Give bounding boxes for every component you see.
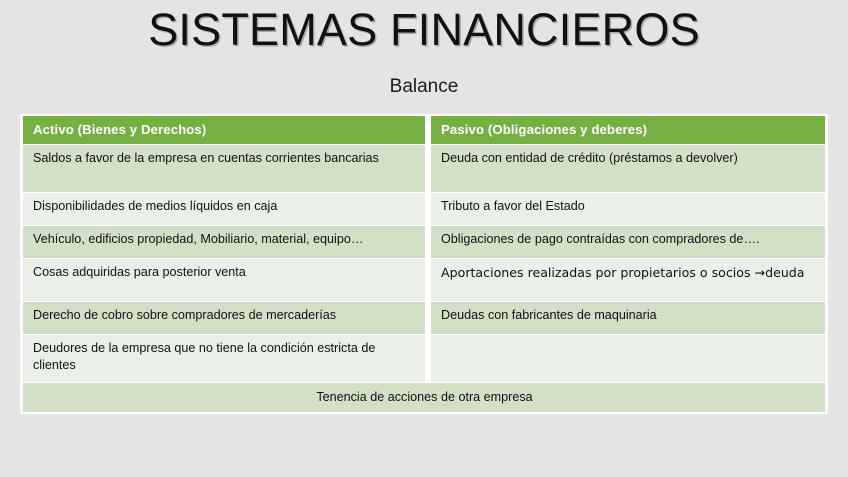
table-row: Saldos a favor de la empresa en cuentas … — [20, 145, 828, 193]
table-row: Disponibilidades de medios líquidos en c… — [20, 193, 828, 226]
page-title: SISTEMAS FINANCIEROS — [0, 2, 848, 57]
cell-pasivo: Tributo a favor del Estado — [428, 193, 828, 226]
cell-activo: Disponibilidades de medios líquidos en c… — [20, 193, 428, 226]
cell-activo: Derecho de cobro sobre compradores de me… — [20, 302, 428, 335]
cell-merged-footer: Tenencia de acciones de otra empresa — [20, 383, 828, 414]
table-row: Cosas adquiridas para posterior venta Ap… — [20, 259, 828, 302]
cell-activo: Saldos a favor de la empresa en cuentas … — [20, 145, 428, 193]
cell-pasivo — [428, 335, 828, 383]
cell-activo: Deudores de la empresa que no tiene la c… — [20, 335, 428, 383]
column-header-pasivo: Pasivo (Obligaciones y deberes) — [428, 114, 828, 145]
slide-canvas: SISTEMAS FINANCIEROS Balance Activo (Bie… — [0, 0, 848, 477]
cell-activo: Cosas adquiridas para posterior venta — [20, 259, 428, 302]
table-row: Deudores de la empresa que no tiene la c… — [20, 335, 828, 383]
cell-activo: Vehículo, edificios propiedad, Mobiliari… — [20, 226, 428, 259]
cell-pasivo: Deuda con entidad de crédito (préstamos … — [428, 145, 828, 193]
slide-subtitle: Balance — [0, 74, 848, 100]
table-row: Vehículo, edificios propiedad, Mobiliari… — [20, 226, 828, 259]
table-header-row: Activo (Bienes y Derechos) Pasivo (Oblig… — [20, 114, 828, 145]
table-footer-row: Tenencia de acciones de otra empresa — [20, 383, 828, 414]
cell-pasivo: Aportaciones realizadas por propietarios… — [428, 259, 828, 302]
cell-pasivo: Obligaciones de pago contraídas con comp… — [428, 226, 828, 259]
balance-table: Activo (Bienes y Derechos) Pasivo (Oblig… — [20, 114, 828, 414]
table-row: Derecho de cobro sobre compradores de me… — [20, 302, 828, 335]
column-header-activo: Activo (Bienes y Derechos) — [20, 114, 428, 145]
cell-pasivo: Deudas con fabricantes de maquinaria — [428, 302, 828, 335]
